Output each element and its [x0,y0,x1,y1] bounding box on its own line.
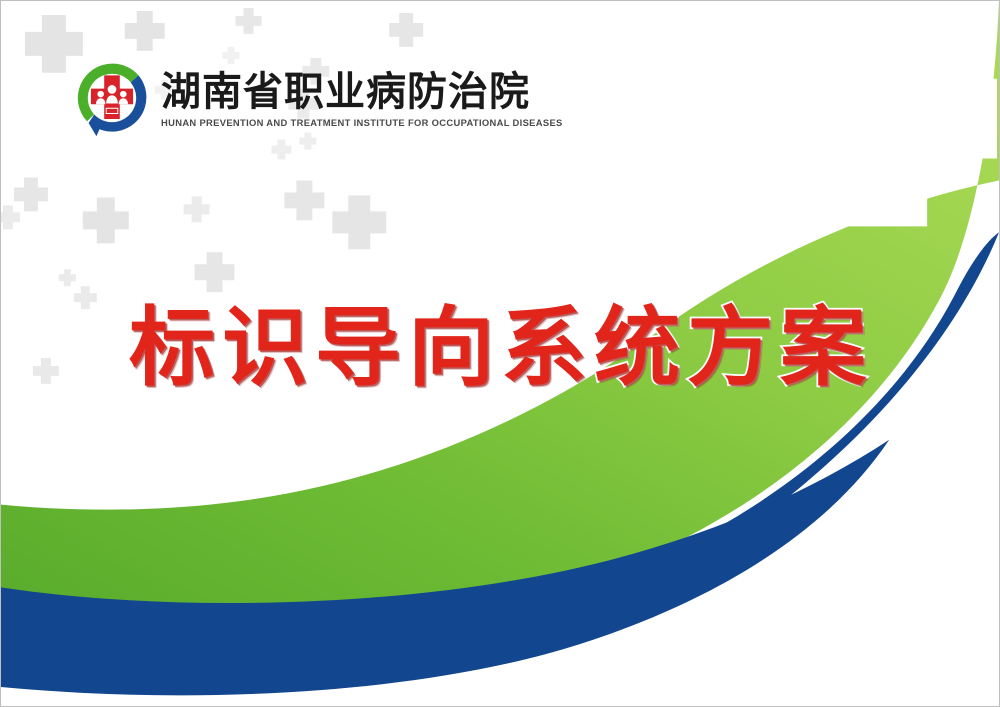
org-name-cn: 湖南省职业病防治院 [161,70,559,113]
poster-canvas: 湖南省职业病防治院 HUNAN PREVENTION AND TREATMENT… [0,0,1000,707]
logo-lockup: 湖南省职业病防治院 HUNAN PREVENTION AND TREATMENT… [73,59,559,137]
hospital-circle-cross-logo-icon [73,59,151,137]
org-name-en: HUNAN PREVENTION AND TREATMENT INSTITUTE… [161,118,563,128]
org-wordmark: 湖南省职业病防治院 HUNAN PREVENTION AND TREATMENT… [161,68,559,127]
page-title: 标识导向系统方案 [129,305,873,391]
